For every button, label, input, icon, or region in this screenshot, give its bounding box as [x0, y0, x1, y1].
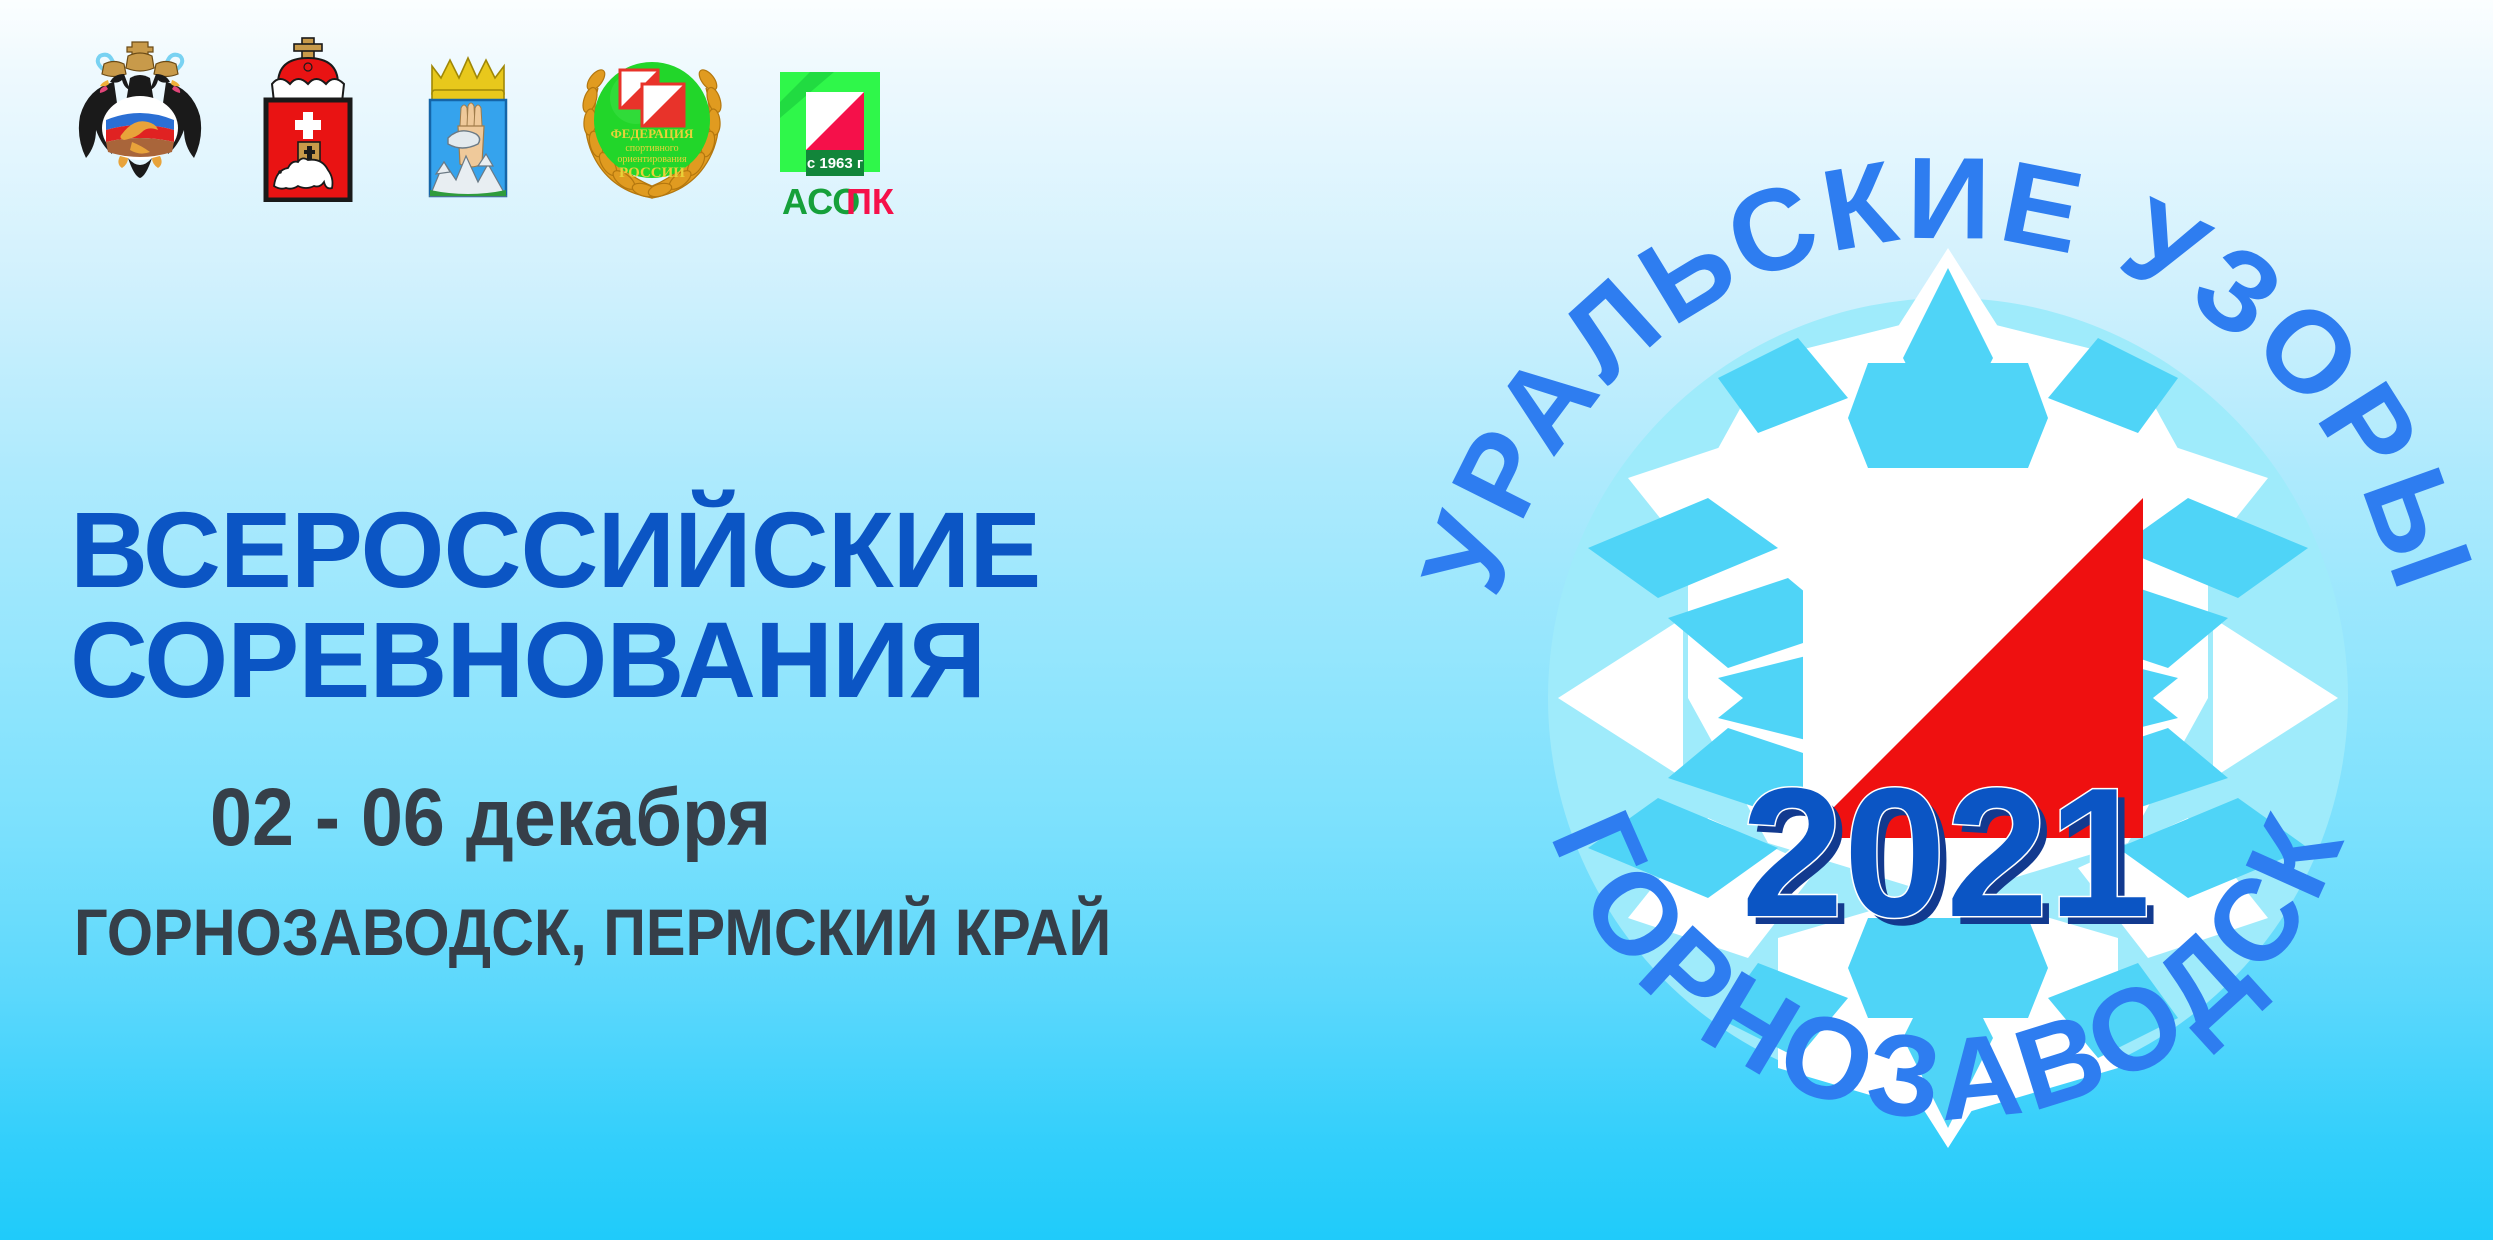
headline-block: ВСЕРОССИЙСКИЕ СОРЕВНОВАНИЯ 02 - 06 декаб…: [70, 495, 1400, 965]
federation-label-line4: РОССИИ: [619, 165, 685, 181]
federation-label-line1: ФЕДЕРАЦИЯ: [611, 126, 694, 141]
event-location: ГОРНОЗАВОДСК, ПЕРМСКИЙ КРАЙ: [74, 899, 1267, 965]
organiser-emblem-strip: ФЕДЕРАЦИЯ спортивного ориентирования РОС…: [70, 34, 900, 219]
ministry-of-sport-russia-emblem: [70, 34, 210, 199]
page-title-line-2: СОРЕВНОВАНИЯ: [70, 605, 1400, 715]
asopk-logo: с 1963 г АСО ПК: [776, 72, 894, 225]
asopk-flag-label: с 1963 г: [807, 155, 863, 172]
page-title-line-1: ВСЕРОССИЙСКИЕ: [70, 495, 1400, 605]
logo-year: 2021 2021: [1741, 749, 2158, 963]
gornozavodsk-coat-of-arms: [406, 34, 528, 207]
event-poster: ФЕДЕРАЦИЯ спортивного ориентирования РОС…: [0, 0, 2493, 1240]
event-dates: 02 - 06 декабря: [210, 777, 1305, 859]
logo-year-text: 2021: [1741, 749, 2150, 955]
federation-label-line2: спортивного: [625, 143, 678, 154]
asopk-text-red: ПК: [846, 181, 894, 220]
russian-orienteering-federation-emblem: ФЕДЕРАЦИЯ спортивного ориентирования РОС…: [566, 34, 738, 209]
federation-label-line3: ориентирования: [617, 154, 687, 165]
perm-krai-coat-of-arms: [248, 34, 368, 207]
event-logo: 2021 2021 УРАЛЬСКИЕ УЗОРЫ ГОРНОЗАВОДСК: [1418, 58, 2478, 1238]
